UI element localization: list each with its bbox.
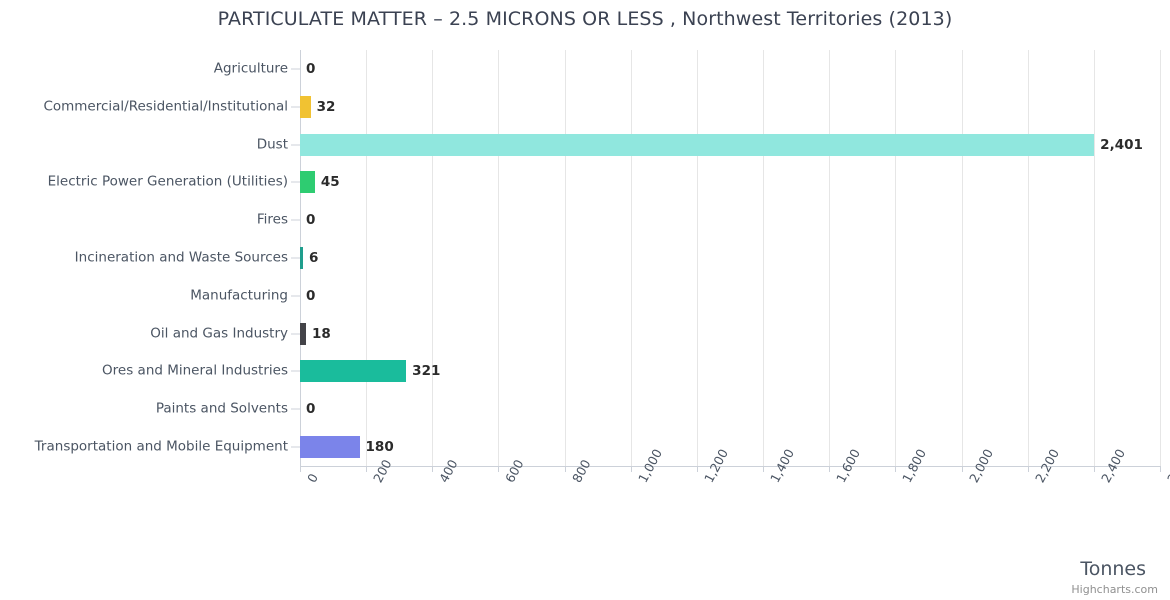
bar[interactable]: [300, 96, 311, 118]
y-axis-category-label: Commercial/Residential/Institutional: [43, 100, 288, 114]
y-axis-tick-mark: [291, 144, 300, 145]
x-axis-tick-label: 0: [304, 471, 321, 485]
y-axis-tick-mark: [291, 295, 300, 296]
gridline: [1094, 50, 1095, 466]
x-axis-tick-mark: [1028, 466, 1029, 472]
bar-value-label: 32: [317, 99, 336, 115]
highcharts-credit: Highcharts.com: [1071, 583, 1158, 596]
gridline: [498, 50, 499, 466]
y-axis-tick-mark: [291, 258, 300, 259]
gridline: [1028, 50, 1029, 466]
x-axis-tick-mark: [432, 466, 433, 472]
y-axis-tick-mark: [291, 220, 300, 221]
chart-container: PARTICULATE MATTER – 2.5 MICRONS OR LESS…: [0, 0, 1170, 600]
y-axis-tick-mark: [291, 68, 300, 69]
gridline: [895, 50, 896, 466]
chart-title: PARTICULATE MATTER – 2.5 MICRONS OR LESS…: [0, 8, 1170, 30]
x-axis-tick-mark: [498, 466, 499, 472]
y-axis-tick-mark: [291, 371, 300, 372]
y-axis-category-label: Paints and Solvents: [156, 403, 288, 417]
y-axis-category-label: Agriculture: [214, 62, 288, 76]
y-axis-category-label: Dust: [257, 138, 288, 152]
bar-value-label: 18: [312, 326, 331, 342]
y-axis-tick-mark: [291, 447, 300, 448]
bar-value-label: 0: [306, 401, 315, 417]
x-axis-tick-mark: [1160, 466, 1161, 472]
y-axis-category-label: Transportation and Mobile Equipment: [35, 440, 288, 454]
x-axis-tick-label: 2,600: [1164, 446, 1170, 485]
x-axis-title: Tonnes: [1080, 558, 1146, 580]
gridline: [432, 50, 433, 466]
x-axis-tick-mark: [962, 466, 963, 472]
x-axis-tick-mark: [895, 466, 896, 472]
bar[interactable]: [300, 247, 303, 269]
x-axis-tick-mark: [300, 466, 301, 472]
x-axis-tick-mark: [565, 466, 566, 472]
gridline: [763, 50, 764, 466]
gridline: [631, 50, 632, 466]
bar-value-label: 0: [306, 61, 315, 77]
y-axis-tick-mark: [291, 333, 300, 334]
bar-value-label: 0: [306, 288, 315, 304]
bar-value-label: 2,401: [1100, 137, 1143, 153]
y-axis-tick-mark: [291, 106, 300, 107]
y-axis-category-label: Oil and Gas Industry: [150, 327, 288, 341]
gridline: [1160, 50, 1161, 466]
x-axis-tick-mark: [697, 466, 698, 472]
bar-value-label: 180: [366, 439, 394, 455]
y-axis-category-label: Electric Power Generation (Utilities): [48, 176, 288, 190]
y-axis-category-label: Manufacturing: [190, 289, 288, 303]
bar-value-label: 45: [321, 174, 340, 190]
plot-area: [300, 50, 1160, 466]
y-axis-category-label: Incineration and Waste Sources: [75, 251, 288, 265]
bar-value-label: 6: [309, 250, 318, 266]
gridline: [697, 50, 698, 466]
x-axis-line: [300, 466, 1160, 467]
gridline: [366, 50, 367, 466]
bar-value-label: 0: [306, 212, 315, 228]
bar-value-label: 321: [412, 363, 440, 379]
y-axis-category-label: Ores and Mineral Industries: [102, 365, 288, 379]
x-axis-tick-mark: [631, 466, 632, 472]
bar[interactable]: [300, 134, 1094, 156]
bar[interactable]: [300, 323, 306, 345]
x-axis-tick-mark: [366, 466, 367, 472]
bar[interactable]: [300, 360, 406, 382]
x-axis-tick-mark: [1094, 466, 1095, 472]
gridline: [962, 50, 963, 466]
x-axis-tick-mark: [763, 466, 764, 472]
y-axis-tick-mark: [291, 409, 300, 410]
y-axis-tick-mark: [291, 182, 300, 183]
y-axis-category-label: Fires: [257, 213, 288, 227]
gridline: [829, 50, 830, 466]
x-axis-tick-mark: [829, 466, 830, 472]
bar[interactable]: [300, 436, 360, 458]
gridline: [565, 50, 566, 466]
bar[interactable]: [300, 171, 315, 193]
